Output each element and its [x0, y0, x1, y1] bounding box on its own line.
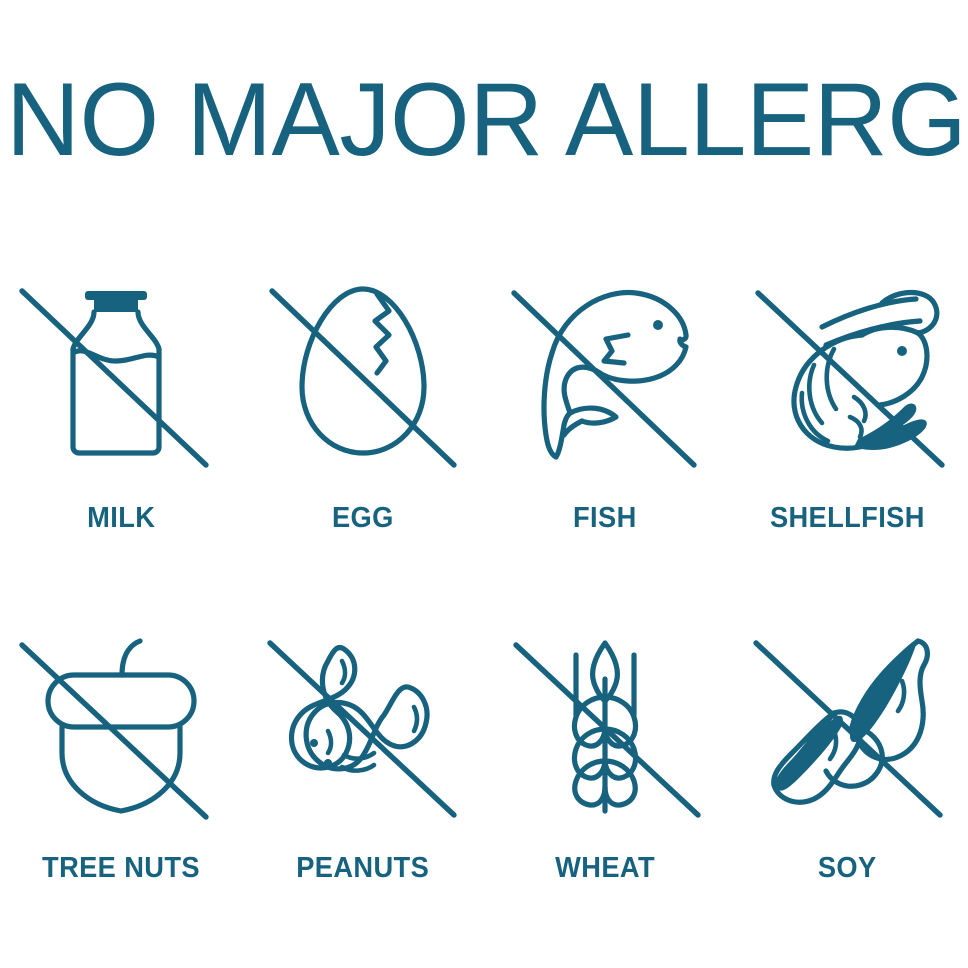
allergen-item-shellfish[interactable]: SHELLFISH: [726, 256, 968, 606]
allergen-label: TREE NUTS: [42, 852, 200, 885]
allergen-label: FISH: [573, 502, 637, 535]
allergen-item-wheat[interactable]: WHEAT: [484, 606, 726, 956]
no-shellfish-icon: [726, 256, 968, 492]
fish-icon: [544, 293, 686, 457]
prohibition-slash: [758, 293, 942, 465]
milk-bottle-icon: [73, 291, 159, 453]
allergen-label: EGG: [332, 502, 394, 535]
no-wheat-icon: [484, 606, 726, 842]
allergen-item-egg[interactable]: EGG: [242, 256, 484, 606]
no-egg-icon: [242, 256, 484, 492]
no-tree-nuts-icon: [0, 606, 242, 842]
shrimp-icon: [794, 293, 937, 450]
allergen-label: SOY: [818, 852, 877, 885]
no-fish-icon: [484, 256, 726, 492]
prohibition-slash: [272, 291, 454, 465]
allergen-item-soy[interactable]: SOY: [726, 606, 968, 956]
page-title: NO MAJOR ALLERGENS: [6, 64, 948, 176]
allergen-item-fish[interactable]: FISH: [484, 256, 726, 606]
allergen-item-tree-nuts[interactable]: TREE NUTS: [0, 606, 242, 956]
allergen-grid: MILK EGG: [0, 256, 968, 936]
no-soy-icon: [726, 606, 968, 842]
peanut-pods-icon: [292, 648, 428, 771]
allergen-label: PEANUTS: [297, 852, 430, 885]
no-milk-bottle-icon: [0, 256, 242, 492]
allergen-label: MILK: [87, 502, 155, 535]
prohibition-slash: [22, 291, 206, 465]
allergen-label: WHEAT: [555, 852, 655, 885]
allergen-item-peanuts[interactable]: PEANUTS: [242, 606, 484, 956]
no-peanuts-icon: [242, 606, 484, 842]
allergen-item-milk[interactable]: MILK: [0, 256, 242, 606]
prohibition-slash: [514, 293, 694, 465]
cracked-egg-icon: [302, 289, 424, 453]
allergen-label: SHELLFISH: [770, 502, 925, 535]
allergen-poster: NO MAJOR ALLERGENS: [0, 0, 968, 968]
